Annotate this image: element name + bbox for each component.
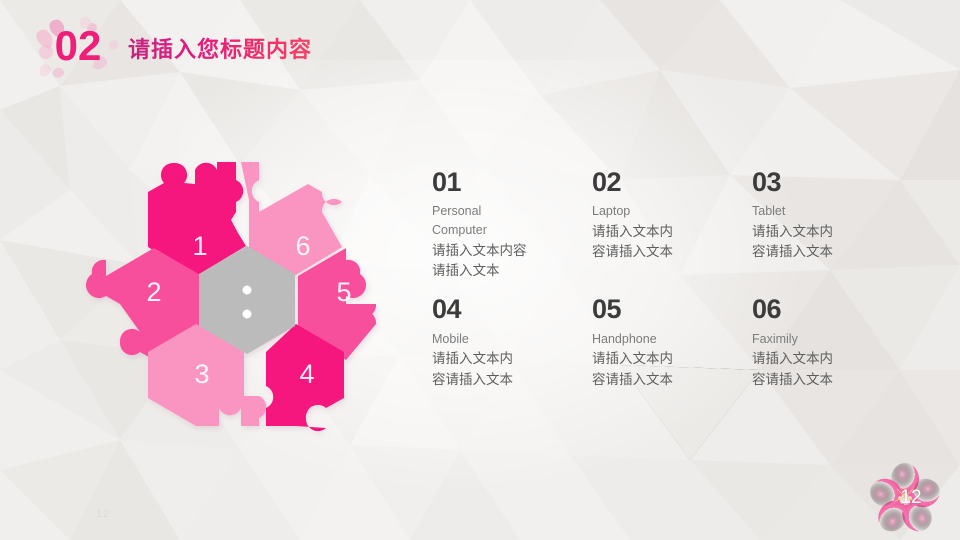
- item-description: 请插入文本内容 请插入文本: [432, 241, 582, 282]
- footer-page-number: 12: [96, 508, 110, 520]
- section-number-badge: 02: [24, 12, 134, 82]
- item-card-05: 05 Handphone 请插入文本内 容请插入文本: [592, 295, 742, 390]
- petal-1-label: 1: [192, 231, 207, 261]
- item-description-line1: 请插入文本内: [432, 349, 582, 369]
- item-subtitle-line2: Computer: [432, 222, 582, 240]
- petal-6-label: 6: [295, 231, 310, 261]
- section-number-text: 02: [55, 22, 102, 69]
- hexagon-puzzle-diagram: 1 6 2 5: [92, 138, 412, 438]
- slide-canvas: 02 请插入您标题内容 1 6: [0, 0, 960, 540]
- slide-page-number: 12: [868, 462, 942, 534]
- item-description-line2: 容请插入文本: [592, 370, 742, 390]
- item-description-line2: 容请插入文本: [592, 242, 742, 262]
- item-description-line1: 请插入文本内: [592, 349, 742, 369]
- center-dot-2: [243, 310, 252, 319]
- petal-5-label: 5: [336, 277, 351, 307]
- center-dot-1: [243, 286, 252, 295]
- item-description: 请插入文本内 容请插入文本: [592, 222, 742, 263]
- item-card-02: 02 Laptop 请插入文本内 容请插入文本: [592, 168, 742, 281]
- item-description: 请插入文本内 容请插入文本: [592, 349, 742, 390]
- items-grid: 01 Personal Computer 请插入文本内容 请插入文本 02 La…: [432, 168, 944, 390]
- petal-3-label: 3: [194, 359, 209, 389]
- item-description-line1: 请插入文本内容: [432, 241, 582, 261]
- item-description-line2: 容请插入文本: [752, 370, 902, 390]
- item-description: 请插入文本内 容请插入文本: [752, 349, 902, 390]
- item-subtitle-line1: Tablet: [752, 203, 902, 221]
- item-subtitle-line1: Handphone: [592, 331, 742, 349]
- item-description: 请插入文本内 容请插入文本: [752, 222, 902, 263]
- slide-header: 02 请插入您标题内容: [0, 0, 960, 92]
- item-number: 01: [432, 168, 582, 196]
- item-description-line1: 请插入文本内: [752, 349, 902, 369]
- item-card-06: 06 Faximily 请插入文本内 容请插入文本: [752, 295, 902, 390]
- item-subtitle-line1: Laptop: [592, 203, 742, 221]
- item-description-line2: 容请插入文本: [432, 370, 582, 390]
- item-number: 06: [752, 295, 902, 323]
- item-description: 请插入文本内 容请插入文本: [432, 349, 582, 390]
- item-description-line2: 容请插入文本: [752, 242, 902, 262]
- item-number: 03: [752, 168, 902, 196]
- item-description-line1: 请插入文本内: [592, 222, 742, 242]
- petal-4-label: 4: [299, 359, 314, 389]
- page-title: 请插入您标题内容: [128, 32, 312, 64]
- item-number: 05: [592, 295, 742, 323]
- item-description-line1: 请插入文本内: [752, 222, 902, 242]
- item-description-line2: 请插入文本: [432, 261, 582, 281]
- item-card-03: 03 Tablet 请插入文本内 容请插入文本: [752, 168, 902, 281]
- item-number: 04: [432, 295, 582, 323]
- item-card-04: 04 Mobile 请插入文本内 容请插入文本: [432, 295, 582, 390]
- item-number: 02: [592, 168, 742, 196]
- item-card-01: 01 Personal Computer 请插入文本内容 请插入文本: [432, 168, 582, 281]
- item-subtitle-line1: Faximily: [752, 331, 902, 349]
- item-subtitle-line1: Personal: [432, 203, 582, 221]
- item-subtitle-line1: Mobile: [432, 331, 582, 349]
- petal-2-label: 2: [146, 277, 161, 307]
